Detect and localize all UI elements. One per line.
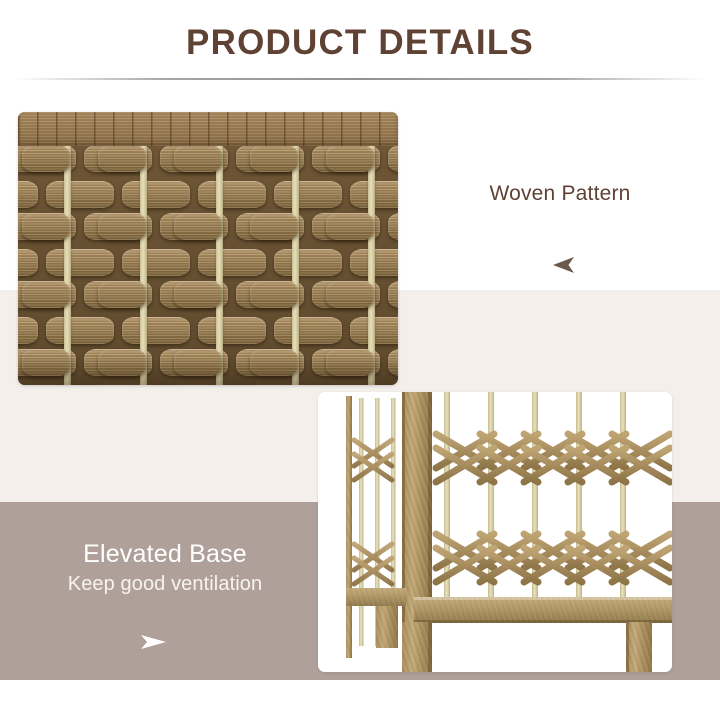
woven-strip [198,249,266,276]
woven-strip [18,181,38,208]
woven-strip [46,249,114,276]
elevated-base-subtitle: Keep good ventilation [20,573,310,596]
woven-strip [198,317,266,344]
elevated-base-title: Elevated Base [20,540,310,569]
woven-strip [174,213,222,240]
woven-strip [274,317,342,344]
woven-strip [98,281,146,308]
bottom-rail-front [414,597,672,623]
furniture-elevated-base-image [318,392,672,672]
woven-strip-row-overlay [18,210,398,244]
left-arrow-icon [552,256,578,274]
woven-strip [250,146,298,172]
woven-strip [22,213,70,240]
page-title: PRODUCT DETAILS [0,22,720,64]
woven-strip-row [18,244,398,278]
woven-bottom-shade [18,359,398,385]
woven-strip-row-overlay [18,278,398,312]
woven-top-rail [18,112,398,146]
woven-pattern-label: Woven Pattern [430,182,690,206]
woven-strip [98,213,146,240]
woven-pattern-image [18,112,398,385]
woven-strip [46,317,114,344]
woven-strip [274,249,342,276]
woven-strip [18,249,38,276]
woven-strip [122,181,190,208]
woven-strip [46,181,114,208]
woven-strip [198,181,266,208]
woven-strip [122,249,190,276]
woven-strip [326,146,374,172]
woven-strip [122,317,190,344]
furniture-illustration [318,392,672,672]
woven-strip [22,146,70,172]
background-band-bottom [0,680,720,720]
right-arrow-icon [139,632,167,652]
woven-strip [274,181,342,208]
woven-strip-row-overlay [18,146,398,176]
woven-strip [250,213,298,240]
woven-strip [250,281,298,308]
woven-strip-row [18,176,398,210]
woven-strip [18,317,38,344]
woven-strip [326,213,374,240]
bottom-rail-side [346,588,406,606]
woven-strip [326,281,374,308]
infographic-canvas: PRODUCT DETAILS Woven Pattern Elevated B… [0,0,720,720]
header-divider [14,78,706,80]
woven-weave-area [18,146,398,385]
leg-right [626,622,652,672]
leg-left-rear [376,606,398,648]
woven-strip [174,146,222,172]
woven-strip [174,281,222,308]
woven-strip [22,281,70,308]
leg-left [402,622,432,672]
woven-strip [98,146,146,172]
woven-strip-row [18,312,398,346]
rail-tick-marks [18,112,398,146]
